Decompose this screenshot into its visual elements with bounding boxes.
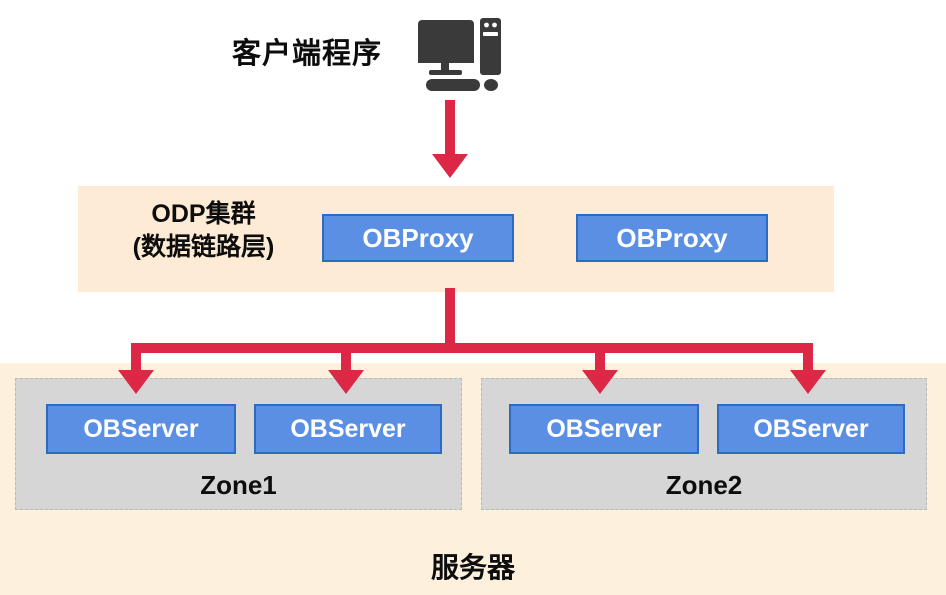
obproxy-node-1-label: OBProxy [362,223,473,254]
zone-2-box: OBServer OBServer Zone2 [481,378,927,510]
obproxy-node-2-label: OBProxy [616,223,727,254]
obproxy-node-2[interactable]: OBProxy [576,214,768,262]
obproxy-node-1[interactable]: OBProxy [322,214,514,262]
odp-label-line-1: ODP集群 [96,198,311,231]
zone-1-box: OBServer OBServer Zone1 [15,378,462,510]
odp-label-line-2: (数据链路层) [96,231,311,264]
observer-node-z2-1[interactable]: OBServer [509,404,699,454]
observer-node-z1-1[interactable]: OBServer [46,404,236,454]
desktop-computer-icon [414,8,506,96]
observer-node-z1-2[interactable]: OBServer [254,404,442,454]
odp-cluster-label: ODP集群 (数据链路层) [96,198,311,264]
observer-node-z2-2[interactable]: OBServer [717,404,905,454]
arrow-client-to-obproxy [432,100,468,178]
observer-node-z2-1-label: OBServer [546,415,661,444]
client-label: 客户端程序 [232,30,382,72]
zone-2-title: Zone2 [482,470,926,501]
observer-node-z1-1-label: OBServer [83,415,198,444]
server-label: 服务器 [0,546,946,586]
observer-node-z1-2-label: OBServer [290,415,405,444]
architecture-diagram: 客户端程序 ODP集群 (数据链路层) OBProxy OBProxy [0,0,946,595]
zone-1-title: Zone1 [16,470,461,501]
observer-node-z2-2-label: OBServer [753,415,868,444]
